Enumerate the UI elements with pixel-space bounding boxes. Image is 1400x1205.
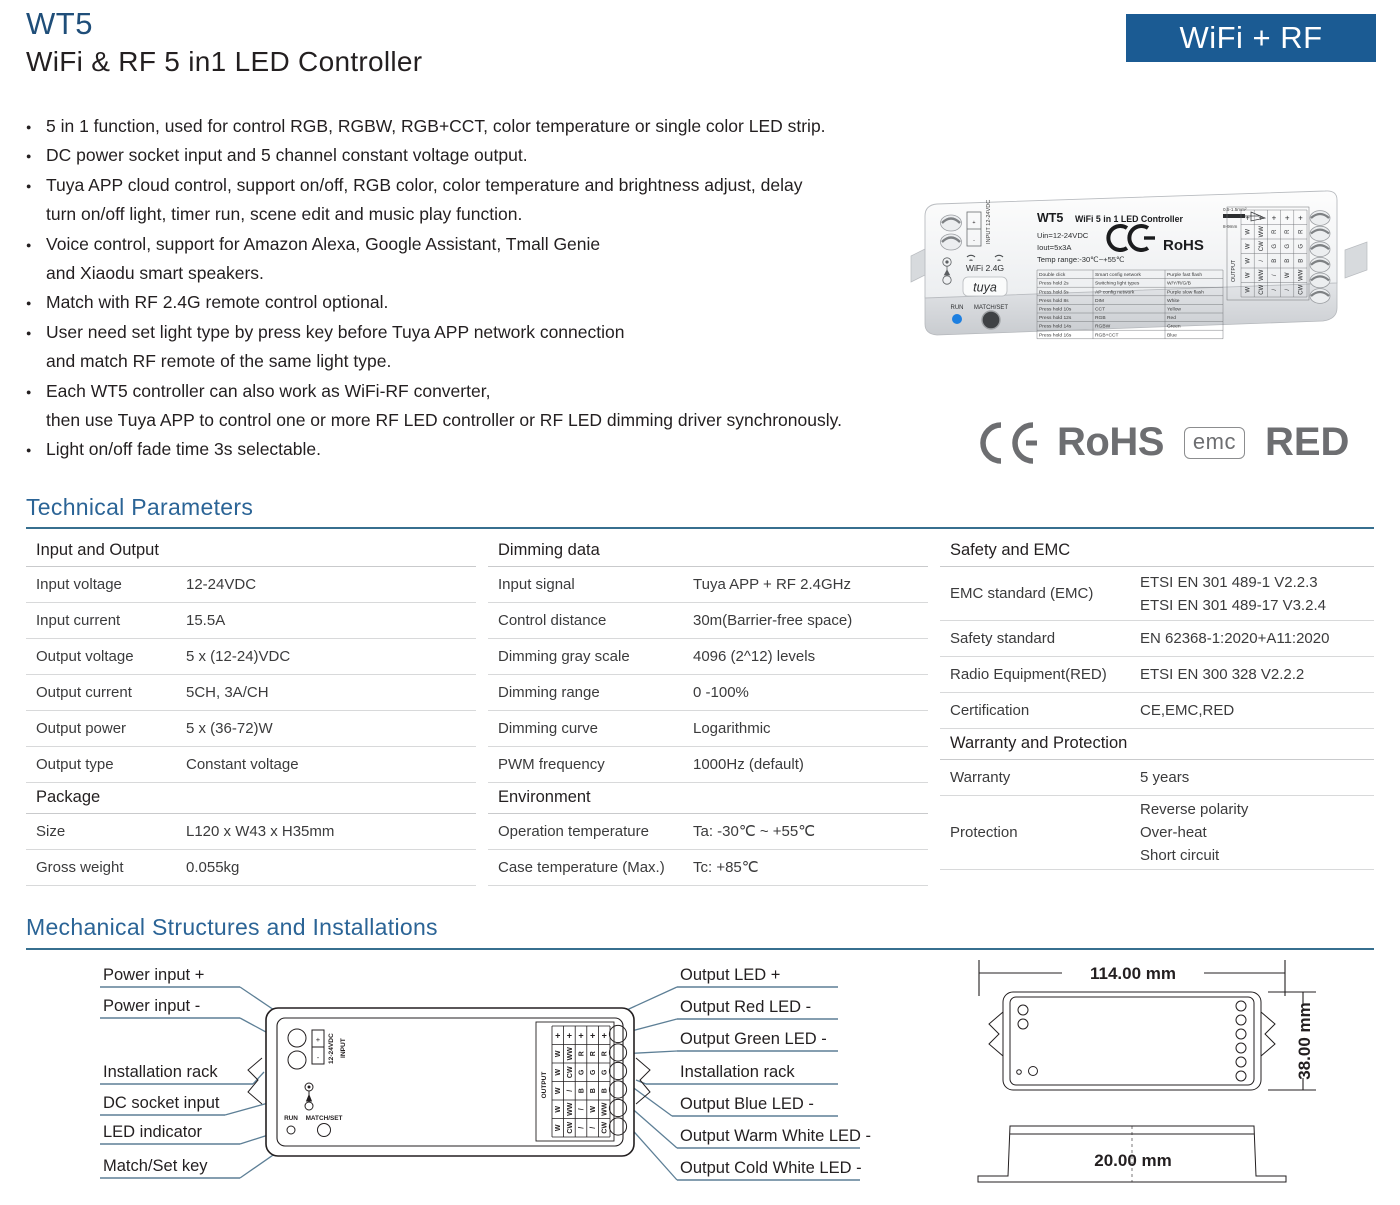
device-terminal-cell: WW [567, 1047, 574, 1061]
spec-column-dimming-environment: Dimming data Input signalTuya APP + RF 2… [488, 536, 928, 886]
feature-list: 5 in 1 function, used for control RGB, R… [26, 112, 906, 465]
callout-output-led-plus: Output LED + [680, 966, 780, 984]
mechanical-diagram: Power input + Power input - Installation… [0, 950, 1400, 1200]
callout-match-set-key: Match/Set key [103, 1157, 208, 1175]
photo-terminal-cell: + [1298, 213, 1303, 222]
photo-key-table-cell: Smart config network [1095, 272, 1141, 278]
photo-terminal-cell: WW [1259, 226, 1265, 238]
photo-uin: Uin=12-24VDC [1037, 231, 1089, 240]
list-item: Light on/off fade time 3s selectable. [26, 435, 906, 464]
photo-terminal-cell: W [1246, 243, 1252, 249]
table-row: Dimming gray scale4096 (2^12) levels [488, 639, 928, 675]
photo-terminal-cell: CW [1259, 284, 1265, 294]
status-badge: WiFi + RF [1126, 14, 1376, 62]
photo-key-table-cell: Press hold 16s [1039, 332, 1072, 338]
device-terminal-cell: G [602, 1069, 609, 1075]
device-input-label: INPUT [340, 1038, 347, 1058]
photo-input-label: INPUT 12-24VDC [986, 200, 992, 244]
device-terminal-cell: / [578, 1127, 585, 1129]
device-matchset-label: MATCH/SET [306, 1115, 343, 1122]
table-row: Control distance30m(Barrier-free space) [488, 603, 928, 639]
device-terminal-cell: CW [567, 1066, 574, 1078]
photo-key-table-cell: Press hold 5s [1039, 289, 1069, 295]
device-terminal-cell: CW [567, 1122, 574, 1134]
callout-output-cold-white-led: Output Cold White LED - [680, 1159, 862, 1177]
table-row: Gross weight0.055kg [26, 850, 476, 886]
photo-key-table-cell: Purple fast flash [1167, 272, 1202, 278]
photo-key-table-cell: RGBW [1095, 324, 1111, 330]
device-run-label: RUN [284, 1115, 298, 1122]
callout-led-indicator: LED indicator [103, 1123, 203, 1141]
list-item: User need set light type by press key be… [26, 318, 906, 377]
photo-output-label: OUTPUT [1231, 259, 1237, 282]
table-row: ProtectionReverse polarityOver-heatShort… [940, 796, 1374, 870]
dim-height: 20.00 mm [1094, 1151, 1172, 1170]
photo-terminal-cell: R [1285, 229, 1291, 234]
callout-output-blue-led: Output Blue LED - [680, 1095, 814, 1113]
photo-key-table-cell: Green [1167, 324, 1181, 330]
photo-key-table-cell: Press hold 10s [1039, 307, 1072, 313]
spec-column-input-output: Input and Output Input voltage12-24VDC I… [26, 536, 476, 886]
photo-terminal-cell: + [1285, 213, 1290, 222]
table-row: Output power5 x (36-72)W [26, 711, 476, 747]
table-row: Case temperature (Max.)Tc: +85℃ [488, 850, 928, 886]
callout-power-input-minus: Power input - [103, 997, 200, 1015]
photo-terminal-cell: W [1285, 272, 1291, 278]
photo-wire-spec: 0.5-1.5mm² [1223, 207, 1247, 212]
photo-terminal-cell: R [1272, 229, 1278, 234]
rohs-mark: RoHS [1057, 420, 1164, 465]
photo-temp: Temp range:-30℃~+55℃ [1037, 255, 1125, 264]
table-row: SizeL120 x W43 x H35mm [26, 814, 476, 850]
photo-key-table-cell: AP config network [1095, 289, 1135, 295]
spec-group-title: Safety and EMC [940, 536, 1374, 567]
table-row: Radio Equipment(RED)ETSI EN 300 328 V2.2… [940, 657, 1374, 693]
device-terminal-cell: + [555, 1031, 560, 1041]
device-terminal-cell: W [555, 1050, 562, 1057]
photo-key-table-cell: W/Y/R/G/B [1167, 281, 1191, 287]
photo-terminal-cell: + [1245, 213, 1250, 222]
photo-key-table-cell: White [1167, 298, 1180, 304]
photo-terminal-cell: R [1298, 229, 1304, 234]
device-output-label: OUTPUT [541, 1072, 548, 1099]
photo-key-table-cell: Red [1167, 315, 1176, 321]
device-terminal-cell: WW [602, 1102, 609, 1116]
emc-mark: emc [1184, 427, 1245, 459]
photo-matchset-label: MATCH/SET [974, 305, 1009, 311]
device-terminal-cell: / [590, 1127, 597, 1129]
table-row: Safety standardEN 62368-1:2020+A11:2020 [940, 621, 1374, 657]
device-terminal-cell: R [602, 1051, 609, 1056]
ce-mark-icon [975, 421, 1037, 465]
photo-output-screw [1310, 273, 1330, 288]
callout-installation-rack-left: Installation rack [103, 1063, 218, 1081]
photo-key-table-cell: Press hold 14s [1039, 324, 1072, 330]
device-terminal-cell: G [590, 1069, 597, 1075]
callout-output-green-led: Output Green LED - [680, 1030, 827, 1048]
dim-width: 38.00 mm [1295, 1002, 1314, 1080]
table-row: CertificationCE,EMC,RED [940, 693, 1374, 729]
device-terminal-cell: + [578, 1031, 583, 1041]
list-item: Each WT5 controller can also work as WiF… [26, 377, 906, 436]
device-terminal-cell: B [602, 1088, 609, 1093]
spec-group-title: Package [26, 783, 476, 814]
photo-key-table-cell: Purple slow flash [1167, 289, 1204, 295]
photo-key-table-cell: RGB [1095, 315, 1106, 321]
photo-key-table-cell: RGB+CCT [1095, 332, 1119, 338]
photo-model-desc: WiFi 5 in 1 LED Controller [1075, 214, 1184, 224]
callout-power-input-plus: Power input + [103, 966, 204, 984]
device-terminal-cell: + [602, 1031, 607, 1041]
spec-group-title: Dimming data [488, 536, 928, 567]
photo-model: WT5 [1037, 211, 1063, 225]
photo-run-label: RUN [951, 305, 964, 311]
photo-rohs: RoHS [1163, 237, 1204, 254]
table-row: Dimming range0 -100% [488, 675, 928, 711]
product-code: WT5 [26, 8, 422, 41]
photo-key-table-cell: Double click [1039, 272, 1066, 278]
device-terminal-cell: W [590, 1106, 597, 1113]
list-item: Tuya APP cloud control, support on/off, … [26, 171, 906, 230]
photo-key-table-cell: Press hold 12s [1039, 315, 1072, 321]
photo-key-table-cell: Yellow [1167, 307, 1181, 313]
table-row: Output typeConstant voltage [26, 747, 476, 783]
photo-terminal-cell: B [1298, 259, 1304, 263]
photo-iout: Iout=5x3A [1037, 243, 1072, 252]
photo-terminal-cell: B [1272, 259, 1278, 263]
photo-output-screw [1310, 211, 1330, 226]
table-row: EMC standard (EMC)ETSI EN 301 489-1 V2.2… [940, 567, 1374, 621]
photo-terminal-cell: WW [1298, 269, 1304, 281]
photo-output-screw [1310, 289, 1330, 304]
table-row: Output current5CH, 3A/CH [26, 675, 476, 711]
photo-output-screw [1310, 257, 1330, 272]
device-terminal-cell: W [555, 1124, 562, 1131]
device-terminal-cell: + [567, 1031, 572, 1041]
photo-terminal-cell: B [1285, 259, 1291, 263]
photo-terminal-cell: G [1272, 244, 1278, 249]
photo-terminal-cell: W [1246, 258, 1252, 264]
table-row: Warranty5 years [940, 760, 1374, 796]
table-row: Input signalTuya APP + RF 2.4GHz [488, 567, 928, 603]
section-title-technical-parameters: Technical Parameters [26, 494, 253, 521]
photo-key-table-cell: DIM [1095, 298, 1104, 304]
page-title: WiFi & RF 5 in1 LED Controller [26, 47, 422, 78]
device-terminal-cell: W [555, 1069, 562, 1076]
spec-group-title: Warranty and Protection [940, 729, 1374, 760]
photo-input-minus: - [973, 238, 975, 244]
red-mark: RED [1265, 420, 1349, 465]
spec-column-safety-warranty: Safety and EMC EMC standard (EMC)ETSI EN… [940, 536, 1374, 870]
photo-terminal-cell: + [1272, 213, 1277, 222]
photo-terminal-cell: CW [1259, 241, 1265, 251]
list-item: DC power socket input and 5 channel cons… [26, 141, 906, 170]
list-item: Voice control, support for Amazon Alexa,… [26, 230, 906, 289]
table-row: PWM frequency1000Hz (default) [488, 747, 928, 783]
photo-terminal-cell: G [1298, 244, 1304, 249]
callout-output-warm-white-led: Output Warm White LED - [680, 1127, 871, 1145]
device-terminal-cell: G [578, 1069, 585, 1075]
device-terminal-cell: / [578, 1108, 585, 1110]
device-terminal-cell: R [578, 1051, 585, 1056]
product-header: WT5 WiFi & RF 5 in1 LED Controller [26, 8, 422, 77]
table-row: Input voltage12-24VDC [26, 567, 476, 603]
device-terminal-cell: WW [567, 1102, 574, 1116]
list-item: 5 in 1 function, used for control RGB, R… [26, 112, 906, 141]
device-terminal-cell: CW [602, 1122, 609, 1134]
photo-terminal-cell: G [1285, 244, 1291, 249]
photo-terminal-cell: CW [1298, 284, 1304, 294]
photo-output-screw [1310, 242, 1330, 257]
device-terminal-cell: B [578, 1088, 585, 1093]
device-terminal-cell: W [555, 1087, 562, 1094]
device-terminal-cell: + [590, 1031, 595, 1041]
device-input-plus: + [316, 1035, 321, 1044]
photo-key-table-cell: Switching light types [1095, 281, 1140, 287]
device-terminal-cell: R [590, 1051, 597, 1056]
photo-input-plus: + [972, 220, 975, 226]
photo-terminal-cell: WW [1259, 269, 1265, 281]
spec-group-title: Environment [488, 783, 928, 814]
table-row: Operation temperatureTa: -30℃ ~ +55℃ [488, 814, 928, 850]
callout-installation-rack-right: Installation rack [680, 1063, 795, 1081]
spec-group-title: Input and Output [26, 536, 476, 567]
device-terminal-cell: B [590, 1088, 597, 1093]
photo-terminal-cell: W [1246, 229, 1252, 235]
right-callouts: Output LED + Output Red LED - Output Gre… [618, 966, 871, 1180]
photo-key-table-cell: Press hold 8s [1039, 298, 1069, 304]
table-row: Dimming curveLogarithmic [488, 711, 928, 747]
device-terminal-cell: / [567, 1090, 574, 1092]
table-row: Input current15.5A [26, 603, 476, 639]
dimension-drawings: 114.00 mm 38.00 mm 20.00 mm [978, 960, 1316, 1182]
photo-tuya-logo: tuya [973, 281, 997, 295]
callout-dc-socket-input: DC socket input [103, 1094, 220, 1112]
device-input-voltage: 12-24VDC [328, 1033, 335, 1064]
dim-length: 114.00 mm [1090, 964, 1176, 983]
callout-output-red-led: Output Red LED - [680, 998, 811, 1016]
section-title-mechanical: Mechanical Structures and Installations [26, 914, 438, 941]
photo-output-screw [1310, 226, 1330, 241]
photo-terminal-cell: + [1258, 213, 1263, 222]
table-row: Output voltage5 x (12-24)VDC [26, 639, 476, 675]
device-terminal-cell: W [555, 1106, 562, 1113]
photo-terminal-cell: W [1246, 272, 1252, 278]
photo-key-table-cell: Press hold 2s [1039, 281, 1069, 287]
product-photo: + - INPUT 12-24VDC WiFi 2.4G tuya RUN MA… [905, 178, 1375, 360]
photo-wifi-label: WiFi 2.4G [966, 263, 1005, 273]
divider [26, 527, 1374, 529]
device-top-view: + - 12-24VDC INPUT RUN MATCH/SET +++++WW… [266, 1008, 634, 1156]
list-item: Match with RF 2.4G remote control option… [26, 288, 906, 317]
photo-terminal-cell: W [1246, 287, 1252, 293]
photo-strip-spec: 8-9mm [1223, 224, 1237, 229]
certification-logos: RoHS emc RED [975, 420, 1349, 465]
photo-key-table-cell: CCT [1095, 307, 1105, 313]
photo-key-table-cell: Blue [1167, 332, 1177, 338]
